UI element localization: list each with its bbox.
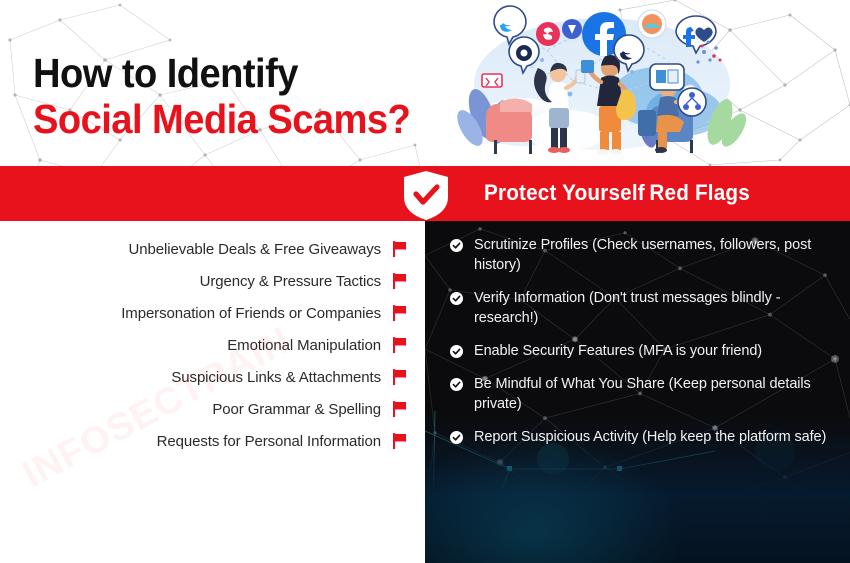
- red-flag-label: Urgency & Pressure Tactics: [200, 273, 381, 290]
- list-item: Report Suspicious Activity (Help keep th…: [425, 427, 850, 447]
- red-flags-list: Unbelievable Deals & Free Giveaways Urge…: [0, 233, 425, 457]
- protect-label: Verify Information (Don't trust messages…: [463, 288, 836, 328]
- list-item: Emotional Manipulation: [0, 329, 425, 361]
- red-flag-label: Requests for Personal Information: [157, 433, 381, 450]
- list-item: Poor Grammar & Spelling: [0, 393, 425, 425]
- list-item: Suspicious Links & Attachments: [0, 361, 425, 393]
- list-item: Verify Information (Don't trust messages…: [425, 288, 850, 328]
- social-media-people-illustration: [452, 2, 747, 157]
- list-item: Urgency & Pressure Tactics: [0, 265, 425, 297]
- protect-yourself-header: Protect Yourself: [484, 180, 645, 206]
- check-circle-icon: [450, 431, 463, 444]
- list-item: Requests for Personal Information: [0, 425, 425, 457]
- red-flag-icon: [393, 337, 407, 353]
- header: How to Identify Social Media Scams?: [0, 0, 850, 166]
- red-flags-header: Red Flags: [649, 180, 750, 206]
- check-circle-icon: [450, 378, 463, 391]
- check-circle-icon: [450, 292, 463, 305]
- list-item: Be Mindful of What You Share (Keep perso…: [425, 374, 850, 414]
- shield-check-icon: [404, 171, 448, 220]
- red-flag-icon: [393, 433, 407, 449]
- list-item: Enable Security Features (MFA is your fr…: [425, 341, 850, 361]
- page-title: How to Identify Social Media Scams?: [33, 50, 439, 142]
- protect-label: Scrutinize Profiles (Check usernames, fo…: [463, 235, 836, 275]
- red-flag-label: Poor Grammar & Spelling: [212, 401, 381, 418]
- protect-label: Be Mindful of What You Share (Keep perso…: [463, 374, 836, 414]
- red-flag-label: Unbelievable Deals & Free Giveaways: [129, 241, 381, 258]
- list-item: Unbelievable Deals & Free Giveaways: [0, 233, 425, 265]
- check-circle-icon: [450, 345, 463, 358]
- red-flag-label: Emotional Manipulation: [227, 337, 381, 354]
- protect-label: Enable Security Features (MFA is your fr…: [463, 341, 762, 361]
- red-flag-label: Impersonation of Friends or Companies: [121, 305, 381, 322]
- check-circle-icon: [450, 239, 463, 252]
- title-line-2: Social Media Scams?: [33, 96, 410, 142]
- red-flag-icon: [393, 401, 407, 417]
- red-flag-icon: [393, 369, 407, 385]
- list-item: Impersonation of Friends or Companies: [0, 297, 425, 329]
- red-flag-icon: [393, 273, 407, 289]
- protect-yourself-list: Scrutinize Profiles (Check usernames, fo…: [425, 235, 850, 460]
- red-flag-icon: [393, 305, 407, 321]
- protect-label: Report Suspicious Activity (Help keep th…: [463, 427, 826, 447]
- list-item: Scrutinize Profiles (Check usernames, fo…: [425, 235, 850, 275]
- red-flag-label: Suspicious Links & Attachments: [171, 369, 381, 386]
- protect-yourself-panel: INFOSECTRAIN Scrutinize Profiles (Check …: [425, 221, 850, 563]
- red-flag-icon: [393, 241, 407, 257]
- red-flags-panel: INFOSECTRAIN Unbelievable Deals & Free G…: [0, 221, 425, 563]
- infographic-page: How to Identify Social Media Scams?: [0, 0, 850, 563]
- title-line-1: How to Identify: [33, 50, 410, 96]
